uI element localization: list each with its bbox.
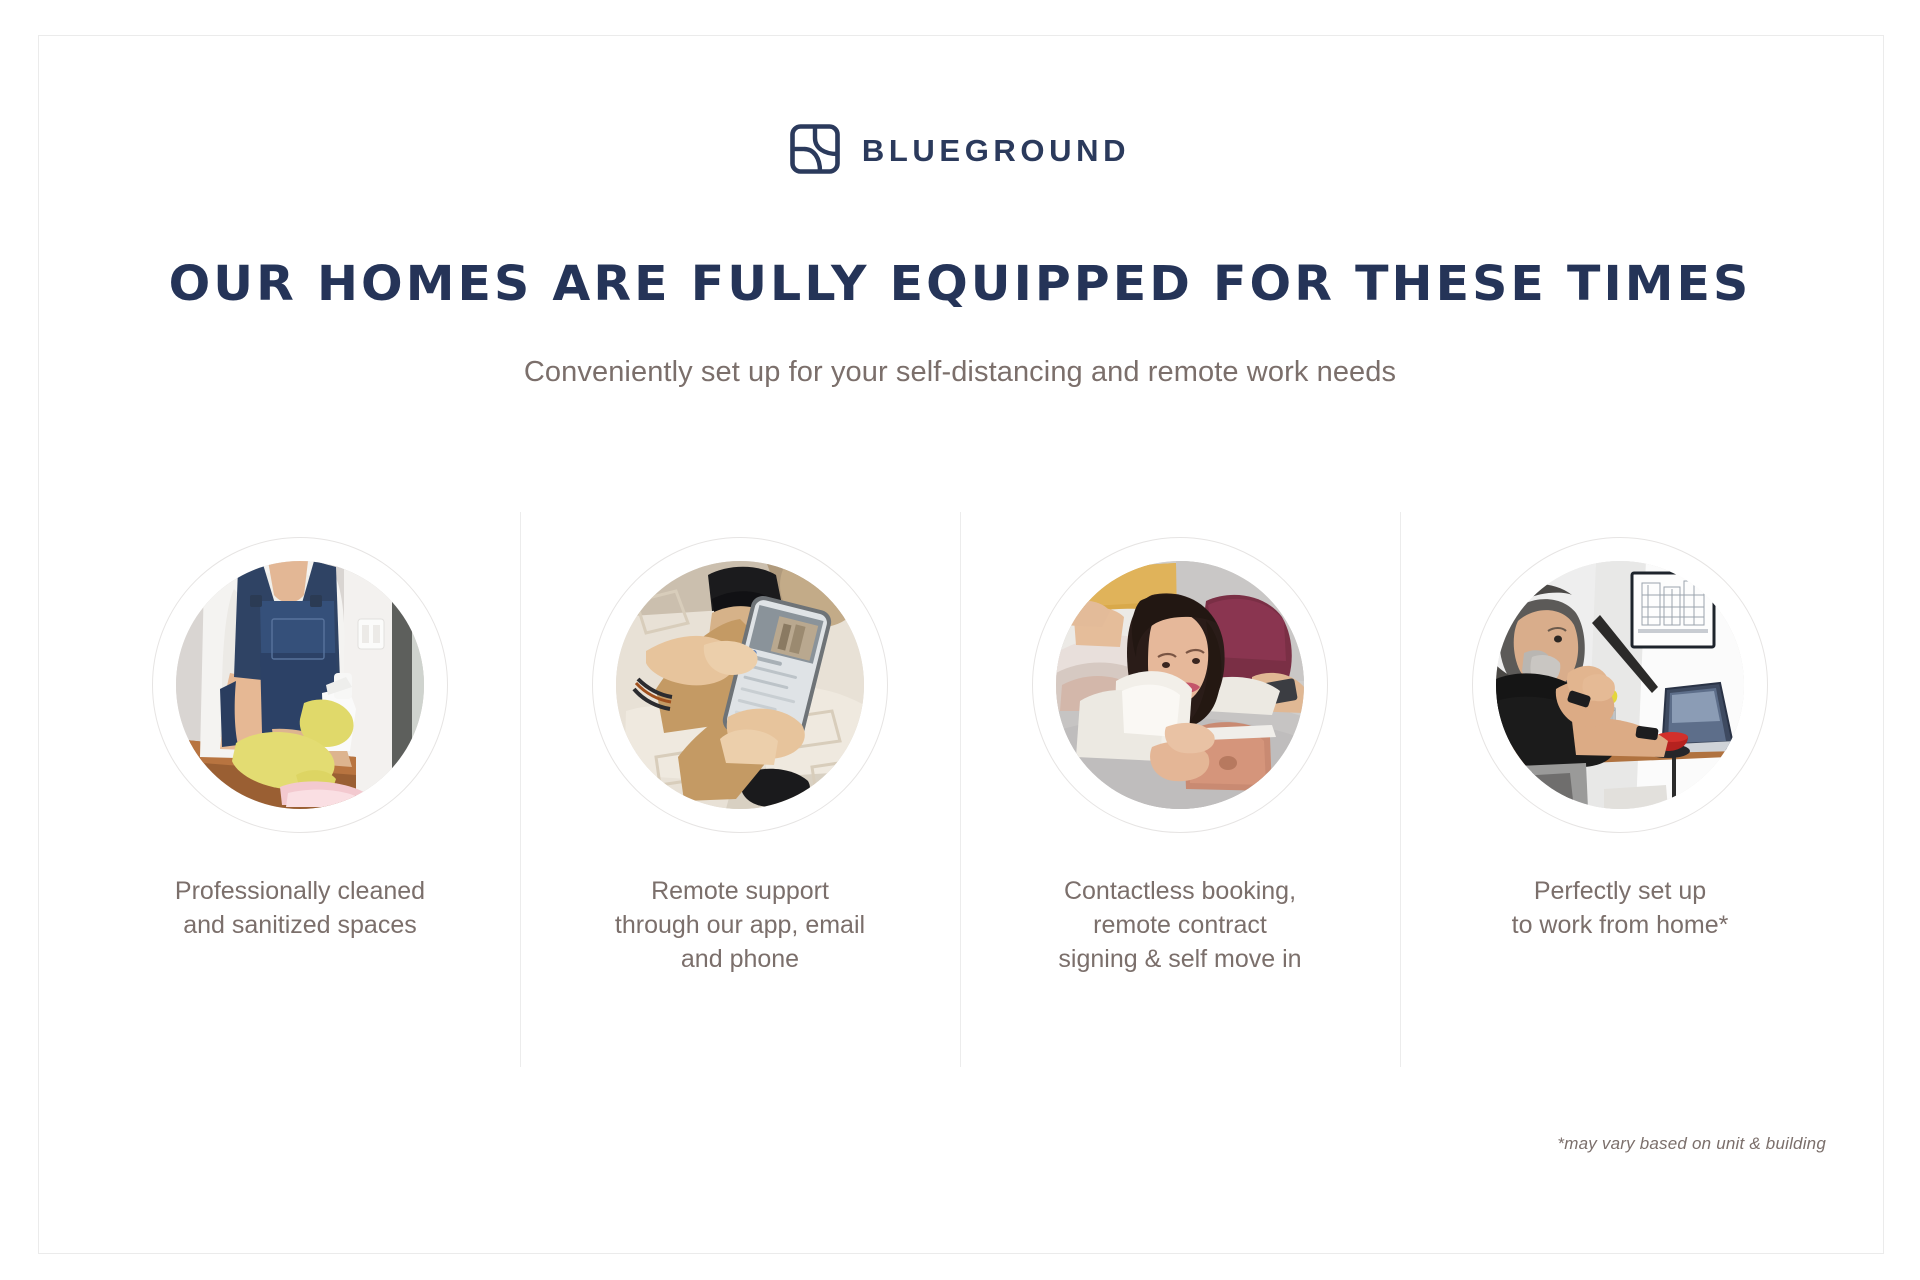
- brand-wordmark: BLUEGROUND: [862, 133, 1130, 166]
- feature-image-ring: [1472, 537, 1768, 833]
- feature-image-ring: [152, 537, 448, 833]
- footnote-disclaimer: *may vary based on unit & building: [1557, 1134, 1826, 1154]
- feature-caption: Remote support through our app, email an…: [575, 875, 905, 976]
- feature-item-cleaning: Professionally cleaned and sanitized spa…: [80, 512, 520, 1067]
- feature-caption: Professionally cleaned and sanitized spa…: [135, 875, 465, 943]
- photo-professional-cleaning: [176, 561, 424, 809]
- feature-item-remote-support: Remote support through our app, email an…: [520, 512, 960, 1067]
- feature-caption: Perfectly set up to work from home*: [1455, 875, 1785, 943]
- feature-grid: Professionally cleaned and sanitized spa…: [80, 512, 1840, 1067]
- feature-item-contactless-booking: Contactless booking, remote contract sig…: [960, 512, 1400, 1067]
- feature-item-work-from-home: Perfectly set up to work from home*: [1400, 512, 1840, 1067]
- feature-caption: Contactless booking, remote contract sig…: [1015, 875, 1345, 976]
- feature-image-ring: [592, 537, 888, 833]
- page-subtitle: Conveniently set up for your self-distan…: [0, 354, 1920, 390]
- photo-contactless-booking-tablet: [1056, 561, 1304, 809]
- brand-lockup: BLUEGROUND: [0, 124, 1920, 174]
- blueground-square-logo-icon: [790, 124, 840, 174]
- poster-canvas: BLUEGROUND OUR HOMES ARE FULLY EQUIPPED …: [0, 0, 1920, 1280]
- feature-image-ring: [1032, 537, 1328, 833]
- photo-work-from-home-desk: [1496, 561, 1744, 809]
- page-title: OUR HOMES ARE FULLY EQUIPPED FOR THESE T…: [0, 258, 1920, 311]
- photo-remote-support-phone: [616, 561, 864, 809]
